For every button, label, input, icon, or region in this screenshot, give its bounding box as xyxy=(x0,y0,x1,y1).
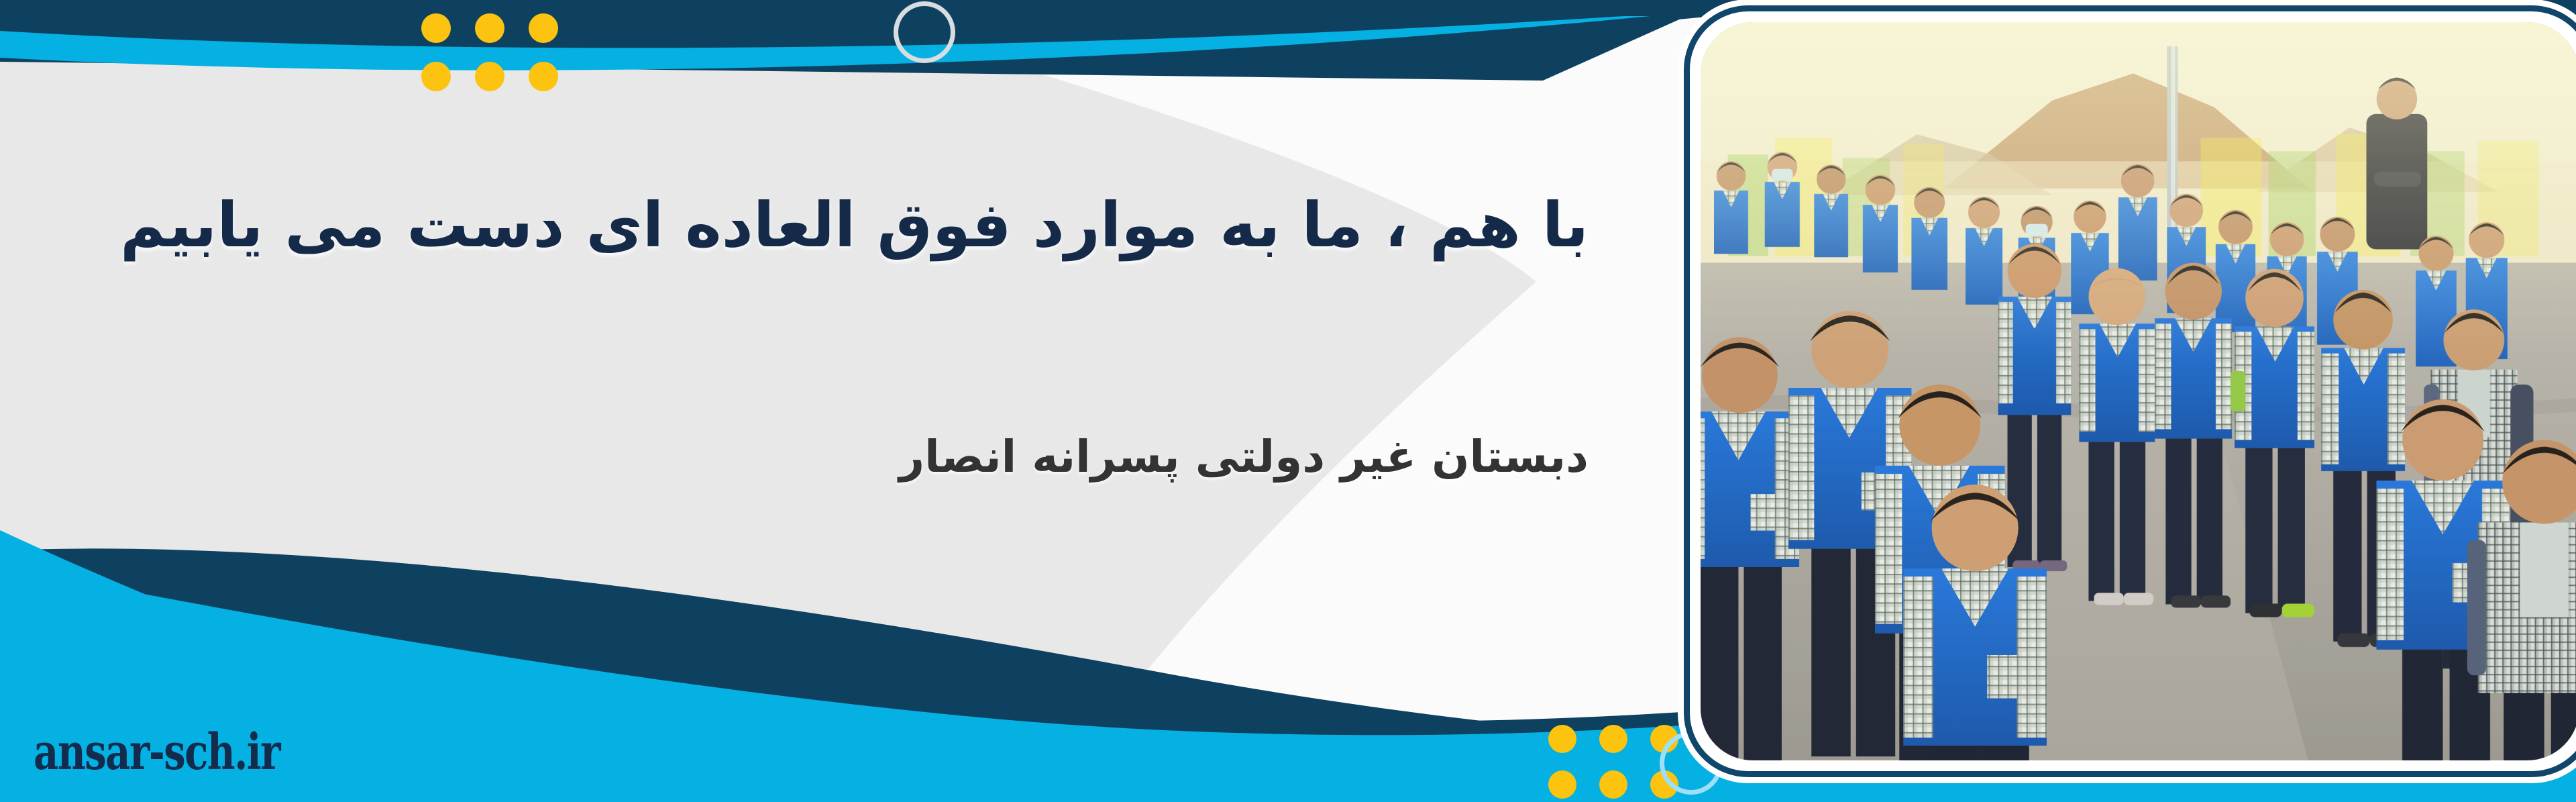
school-students-photo xyxy=(1701,22,2576,760)
dot-icon xyxy=(529,62,558,91)
dot-icon xyxy=(475,13,504,43)
dot-icon xyxy=(529,13,558,43)
circle-outline-icon-top xyxy=(894,1,955,63)
dot-icon xyxy=(421,62,451,91)
photo-frame xyxy=(1684,5,2576,777)
school-banner: با هم ، ما به موارد فوق العاده ای دست می… xyxy=(0,0,2576,802)
dot-icon xyxy=(1548,770,1576,799)
site-url-text[interactable]: ansar-sch.ir xyxy=(34,723,280,781)
dot-icon xyxy=(475,62,504,91)
dot-grid-icon-top xyxy=(421,13,558,91)
dot-icon xyxy=(1548,725,1576,753)
dot-icon xyxy=(421,13,451,43)
dot-icon xyxy=(1599,770,1627,799)
dot-icon xyxy=(1599,725,1627,753)
dot-grid-icon-bottom xyxy=(1548,725,1678,799)
